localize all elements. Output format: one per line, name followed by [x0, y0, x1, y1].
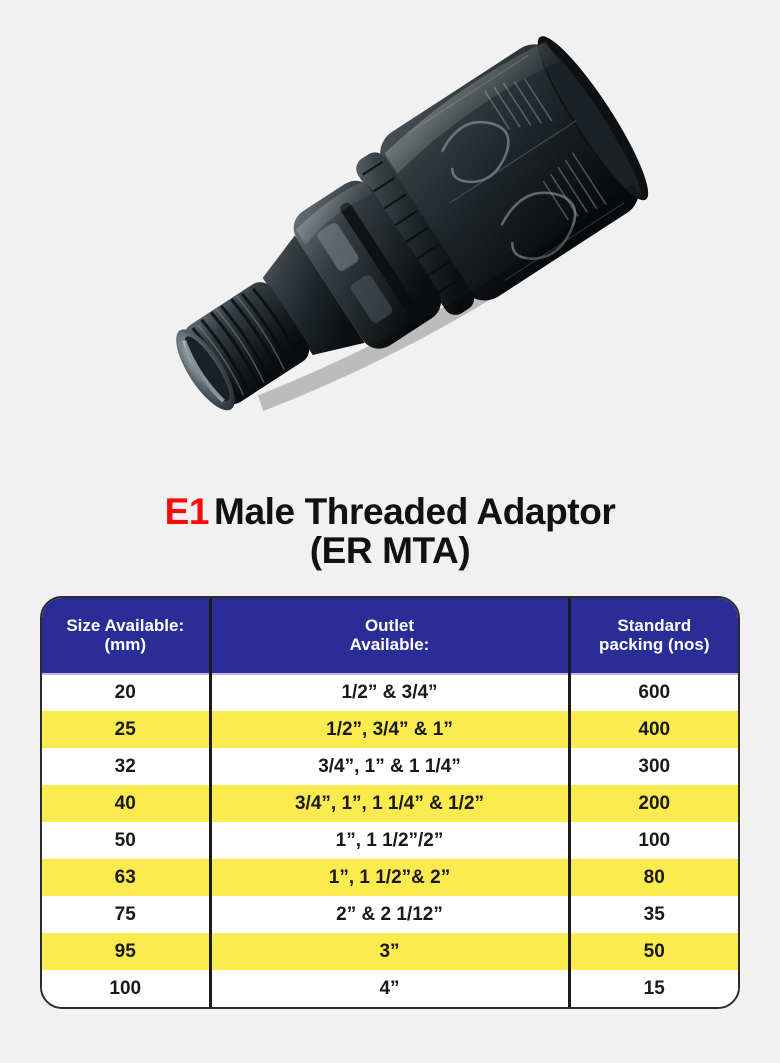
- specification-table: Size Available: (mm) Outlet Available: S…: [42, 598, 738, 1007]
- table-row: 201/2” & 3/4”600: [42, 674, 738, 711]
- cell-outlet: 1”, 1 1/2”/2”: [210, 822, 569, 859]
- column-header-size-line1: Size Available:: [46, 616, 205, 635]
- cell-packing: 50: [569, 933, 738, 970]
- table-row: 323/4”, 1” & 1 1/4”300: [42, 748, 738, 785]
- cell-packing: 400: [569, 711, 738, 748]
- product-spec-sheet: E1Male Threaded Adaptor (ER MTA) Size Av…: [0, 0, 780, 1063]
- cell-outlet: 1”, 1 1/2”& 2”: [210, 859, 569, 896]
- cell-packing: 15: [569, 970, 738, 1007]
- cell-packing: 100: [569, 822, 738, 859]
- product-name: Male Threaded Adaptor: [214, 491, 615, 532]
- column-header-packing: Standard packing (nos): [569, 598, 738, 674]
- cell-outlet: 1/2”, 3/4” & 1”: [210, 711, 569, 748]
- table-row: 631”, 1 1/2”& 2”80: [42, 859, 738, 896]
- product-code: E1: [165, 491, 209, 532]
- cell-outlet: 3”: [210, 933, 569, 970]
- table-header-row: Size Available: (mm) Outlet Available: S…: [42, 598, 738, 674]
- column-header-outlet: Outlet Available:: [210, 598, 569, 674]
- column-header-outlet-line2: Available:: [216, 635, 564, 654]
- cell-packing: 80: [569, 859, 738, 896]
- product-title-line: E1Male Threaded Adaptor: [0, 492, 780, 531]
- cell-packing: 200: [569, 785, 738, 822]
- table-body: 201/2” & 3/4”600251/2”, 3/4” & 1”400323/…: [42, 674, 738, 1007]
- table-row: 953”50: [42, 933, 738, 970]
- cell-outlet: 3/4”, 1”, 1 1/4” & 1/2”: [210, 785, 569, 822]
- cell-packing: 35: [569, 896, 738, 933]
- spec-table-container: Size Available: (mm) Outlet Available: S…: [40, 596, 740, 1009]
- cell-outlet: 3/4”, 1” & 1 1/4”: [210, 748, 569, 785]
- column-header-size-line2: (mm): [46, 635, 205, 654]
- cell-size: 63: [42, 859, 210, 896]
- product-subtitle: (ER MTA): [0, 531, 780, 570]
- table-row: 1004”15: [42, 970, 738, 1007]
- column-header-packing-line2: packing (nos): [575, 635, 735, 654]
- cell-packing: 300: [569, 748, 738, 785]
- male-threaded-adaptor-photo: [0, 0, 780, 478]
- cell-packing: 600: [569, 674, 738, 711]
- cell-size: 32: [42, 748, 210, 785]
- cell-outlet: 1/2” & 3/4”: [210, 674, 569, 711]
- column-header-packing-line1: Standard: [575, 616, 735, 635]
- table-row: 501”, 1 1/2”/2”100: [42, 822, 738, 859]
- column-header-outlet-line1: Outlet: [216, 616, 564, 635]
- cell-size: 95: [42, 933, 210, 970]
- cell-size: 75: [42, 896, 210, 933]
- table-header: Size Available: (mm) Outlet Available: S…: [42, 598, 738, 674]
- cell-size: 100: [42, 970, 210, 1007]
- column-header-size: Size Available: (mm): [42, 598, 210, 674]
- table-row: 752” & 2 1/12”35: [42, 896, 738, 933]
- table-row: 403/4”, 1”, 1 1/4” & 1/2”200: [42, 785, 738, 822]
- cell-outlet: 2” & 2 1/12”: [210, 896, 569, 933]
- cell-size: 50: [42, 822, 210, 859]
- product-image: [0, 0, 780, 478]
- cell-size: 20: [42, 674, 210, 711]
- page-title: E1Male Threaded Adaptor (ER MTA): [0, 492, 780, 570]
- cell-outlet: 4”: [210, 970, 569, 1007]
- cell-size: 25: [42, 711, 210, 748]
- table-row: 251/2”, 3/4” & 1”400: [42, 711, 738, 748]
- cell-size: 40: [42, 785, 210, 822]
